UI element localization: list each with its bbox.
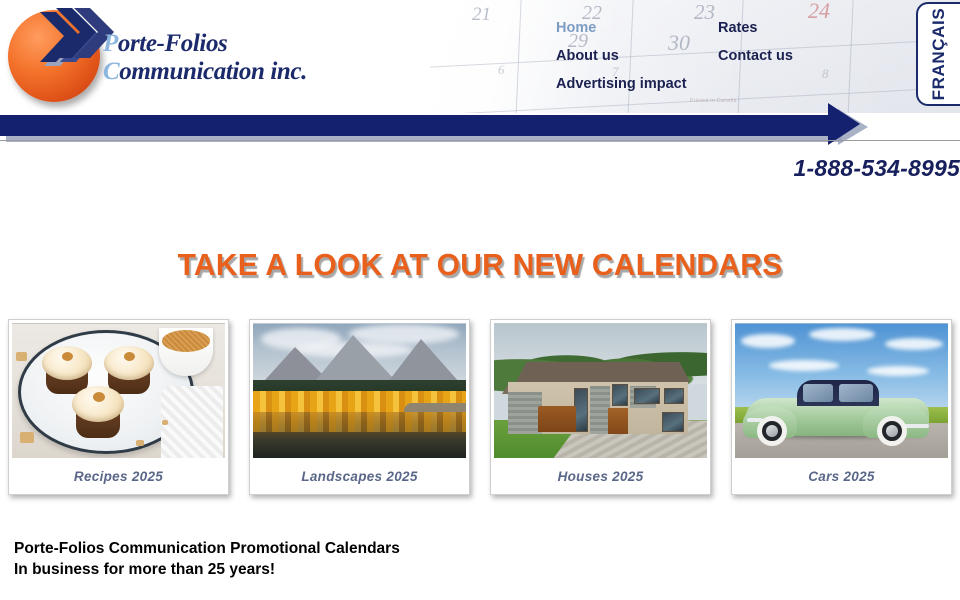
calendar-caption-recipes: Recipes 2025	[12, 458, 225, 494]
landscapes-cover-image	[253, 323, 466, 458]
nav-link-advertising-impact[interactable]: Advertising impact	[556, 76, 687, 92]
tagline-line-2: In business for more than 25 years!	[14, 561, 275, 578]
cars-cover-image	[735, 323, 948, 458]
houses-cover-image	[494, 323, 707, 458]
nav-row-3: Advertising impact	[556, 76, 916, 104]
nav-row-2: About us Contact us	[556, 48, 916, 76]
brand-initial-p: P	[103, 30, 118, 57]
brand-name-line1-rest: orte-Folios	[118, 30, 228, 57]
recipes-cover-image	[12, 323, 225, 458]
site-logo[interactable]: Porte-FoliosCommunication inc.	[8, 6, 338, 106]
nav-link-home[interactable]: Home	[556, 20, 596, 36]
calendar-day-6: 6	[498, 62, 505, 78]
phone-number[interactable]: 1-888-534-8995	[794, 155, 960, 182]
calendar-caption-houses: Houses 2025	[494, 458, 707, 494]
tagline-line-1: Porte-Folios Communication Promotional C…	[14, 540, 400, 557]
calendar-card-cars[interactable]: Cars 2025	[731, 319, 952, 495]
calendar-caption-cars: Cars 2025	[735, 458, 948, 494]
calendar-card-grid: Recipes 2025 Landscapes 2025	[8, 319, 952, 495]
brand-wordmark: Porte-FoliosCommunication inc.	[103, 30, 307, 86]
header-underline	[0, 140, 960, 141]
main-roof	[516, 362, 690, 382]
water-reflection	[253, 412, 466, 431]
nav-link-rates[interactable]: Rates	[718, 20, 758, 36]
nav-link-contact-us[interactable]: Contact us	[718, 48, 793, 64]
front-door	[608, 408, 628, 434]
language-toggle-francais[interactable]: FRANÇAIS	[916, 2, 960, 106]
arrow-bar	[0, 115, 830, 136]
calendar-card-landscapes[interactable]: Landscapes 2025	[249, 319, 470, 495]
rear-wheel	[877, 416, 907, 446]
nav-link-about-us[interactable]: About us	[556, 48, 619, 64]
brand-initial-c: C	[103, 58, 119, 85]
site-header: 21 22 23 24 29 30 6 7 8 Printed in Canad…	[0, 0, 960, 113]
lake-shape	[253, 412, 466, 458]
calendar-card-houses[interactable]: Houses 2025	[490, 319, 711, 495]
towel-shape	[161, 386, 223, 458]
calendar-card-recipes[interactable]: Recipes 2025	[8, 319, 229, 495]
main-navigation: Home Rates About us Contact us Advertisi…	[556, 20, 916, 104]
arrow-head-icon	[828, 103, 860, 145]
front-wheel	[757, 416, 787, 446]
sugar-bowl-shape	[159, 328, 213, 376]
brand-name-line2-rest: ommunication inc.	[119, 58, 307, 85]
garage-door	[538, 406, 576, 432]
language-toggle-label: FRANÇAIS	[929, 8, 949, 101]
footer-tagline: Porte-Folios Communication Promotional C…	[14, 538, 400, 580]
navy-arrow-divider	[0, 113, 960, 147]
page-title: TAKE A LOOK AT OUR NEW CALENDARS	[14, 247, 945, 283]
calendar-caption-landscapes: Landscapes 2025	[253, 458, 466, 494]
nav-row-1: Home Rates	[556, 20, 916, 48]
calendar-day-21: 21	[472, 4, 491, 26]
